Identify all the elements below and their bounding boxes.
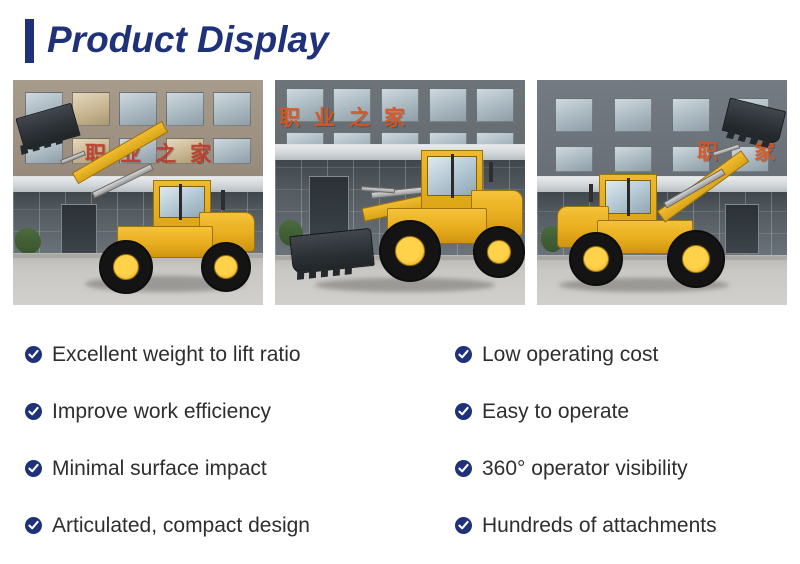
wheel-hub (214, 255, 238, 279)
wheel-loader-machine (13, 80, 263, 305)
feature-item: Hundreds of attachments (455, 497, 800, 554)
bucket-tooth (55, 134, 63, 145)
feature-label: Minimal surface impact (52, 457, 267, 481)
wheel-hub (682, 245, 710, 273)
front-wheel (99, 240, 153, 294)
wheel-hub (113, 254, 139, 280)
check-circle-icon (25, 517, 42, 534)
check-circle-icon (455, 346, 472, 363)
feature-item: Improve work efficiency (25, 383, 445, 440)
product-photo-2[interactable]: 职 业 之 家 (275, 80, 525, 305)
bucket-tooth (726, 129, 736, 139)
wheel-hub (487, 240, 511, 264)
cab-pillar (627, 178, 630, 216)
wheel-loader-machine (537, 80, 787, 305)
wheel-loader-machine (275, 80, 525, 305)
bucket-tooth (43, 137, 51, 148)
feature-item: Minimal surface impact (25, 440, 445, 497)
feature-item: Excellent weight to lift ratio (25, 326, 445, 383)
bucket-tooth (333, 266, 340, 276)
feature-column-left: Excellent weight to lift ratio Improve w… (25, 326, 445, 554)
check-circle-icon (455, 517, 472, 534)
bucket-tooth (761, 138, 771, 148)
rear-wheel (201, 242, 251, 292)
bucket-tooth (749, 135, 759, 145)
hydraulic-cylinder (663, 168, 725, 208)
feature-label: Low operating cost (482, 343, 658, 367)
feature-column-right: Low operating cost Easy to operate 360° … (455, 326, 800, 554)
check-circle-icon (455, 460, 472, 477)
feature-label: Excellent weight to lift ratio (52, 343, 301, 367)
front-wheel (667, 230, 725, 288)
product-image-gallery: 职 业 之 家 (13, 80, 787, 305)
feature-list: Excellent weight to lift ratio Improve w… (0, 326, 800, 564)
check-circle-icon (25, 403, 42, 420)
tilt-link (361, 186, 395, 193)
feature-item: 360° operator visibility (455, 440, 800, 497)
page-header: Product Display (0, 0, 800, 78)
bucket-tooth (297, 270, 304, 280)
check-circle-icon (455, 403, 472, 420)
bucket-tooth (32, 141, 40, 152)
wheel-hub (395, 236, 425, 266)
feature-label: Improve work efficiency (52, 400, 271, 424)
feature-label: Easy to operate (482, 400, 629, 424)
front-wheel (379, 220, 441, 282)
check-circle-icon (25, 346, 42, 363)
wheel-hub (583, 246, 609, 272)
product-photo-1[interactable]: 职 业 之 家 (13, 80, 263, 305)
bucket-tooth (738, 132, 748, 142)
feature-label: Articulated, compact design (52, 514, 310, 538)
bucket-tooth (20, 144, 28, 155)
exhaust-pipe (221, 190, 225, 210)
rear-wheel (569, 232, 623, 286)
lift-arm (72, 121, 169, 184)
cab-pillar (451, 154, 454, 198)
title-accent-bar (25, 19, 34, 63)
product-photo-3[interactable]: 职 家 (537, 80, 787, 305)
check-circle-icon (25, 460, 42, 477)
feature-label: 360° operator visibility (482, 457, 688, 481)
page-title: Product Display (47, 13, 329, 67)
tilt-link (60, 150, 86, 164)
feature-item: Articulated, compact design (25, 497, 445, 554)
feature-label: Hundreds of attachments (482, 514, 717, 538)
bucket-tooth (345, 265, 352, 275)
bucket-tooth (321, 268, 328, 278)
exhaust-pipe (589, 184, 593, 202)
feature-item: Low operating cost (455, 326, 800, 383)
cab-pillar (179, 184, 182, 220)
exhaust-pipe (489, 162, 493, 182)
feature-item: Easy to operate (455, 383, 800, 440)
rear-wheel (473, 226, 525, 278)
bucket-tooth (309, 269, 316, 279)
